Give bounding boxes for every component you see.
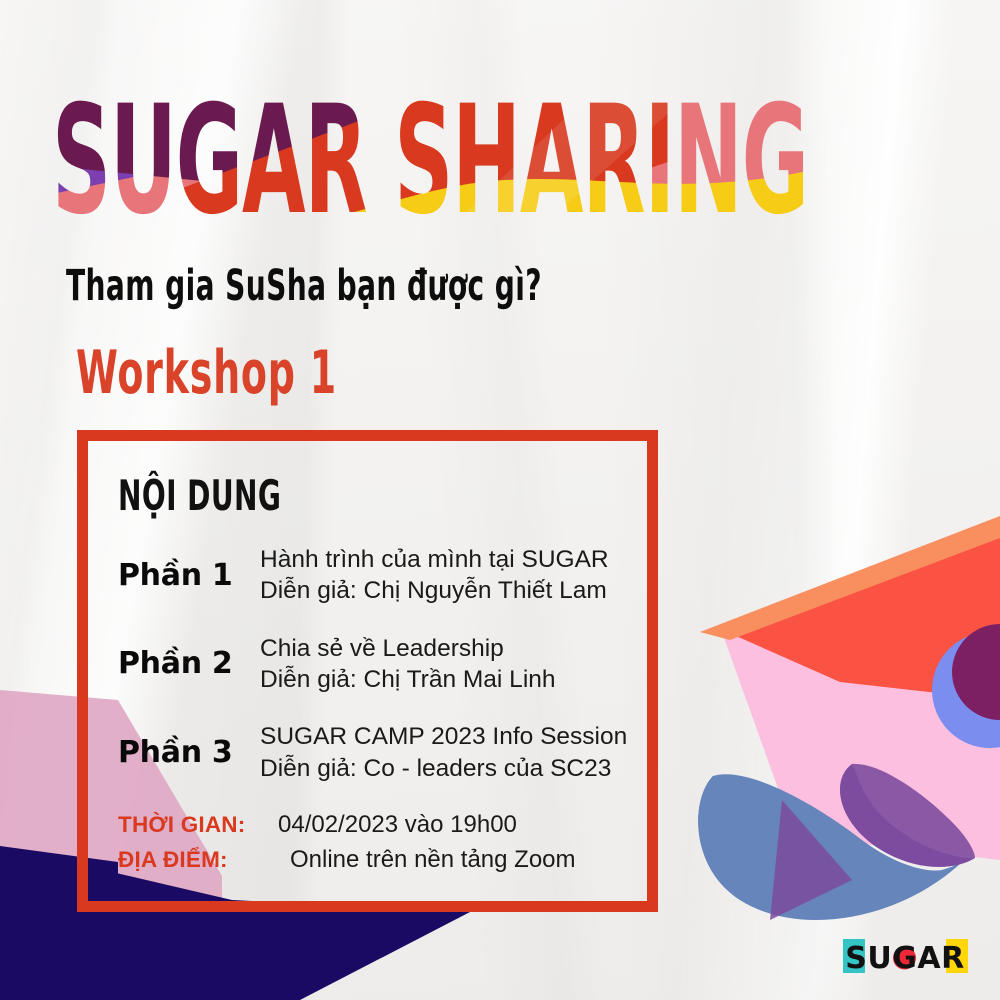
part-speaker: Diễn giả: Chị Nguyễn Thiết Lam	[260, 575, 638, 606]
part-speaker: Diễn giả: Co - leaders của SC23	[260, 753, 638, 784]
sugar-logo-text: SUGAR	[845, 941, 964, 976]
location-label: ĐỊA ĐIỂM:	[118, 847, 278, 873]
meta-row-location: ĐỊA ĐIỂM: Online trên nền tảng Zoom	[118, 846, 648, 874]
part-body: SUGAR CAMP 2023 Info Session Diễn giả: C…	[260, 721, 638, 784]
part-speaker: Diễn giả: Chị Trần Mai Linh	[260, 664, 638, 695]
part-body: Chia sẻ về Leadership Diễn giả: Chị Trần…	[260, 633, 638, 696]
location-value: Online trên nền tảng Zoom	[278, 846, 576, 874]
part-topic: SUGAR CAMP 2023 Info Session	[260, 723, 627, 750]
part-topic: Hành trình của mình tại SUGAR	[260, 546, 609, 573]
part-body: Hành trình của mình tại SUGAR Diễn giả: …	[260, 544, 638, 607]
workshop-heading: Workshop 1	[76, 338, 337, 408]
sugar-logo: SUGAR	[843, 935, 968, 977]
list-item: Phần 1 Hành trình của mình tại SUGAR Diễ…	[118, 544, 638, 607]
section-heading-noi-dung: NỘI DUNG	[118, 473, 281, 521]
time-value: 04/02/2023 vào 19h00	[278, 811, 517, 839]
event-meta: THỜI GIAN: 04/02/2023 vào 19h00 ĐỊA ĐIỂM…	[118, 811, 648, 881]
headline-sugar-sharing: SUGAR SHARING	[52, 74, 812, 244]
subtitle-question: Tham gia SuSha bạn được gì?	[66, 262, 542, 310]
part-topic: Chia sẻ về Leadership	[260, 635, 504, 662]
part-label: Phần 1	[118, 560, 260, 592]
part-label: Phần 3	[118, 737, 260, 769]
poster-canvas: SUGAR SHARING	[0, 0, 1000, 1000]
list-item: Phần 3 SUGAR CAMP 2023 Info Session Diễn…	[118, 721, 638, 784]
part-label: Phần 2	[118, 648, 260, 680]
parts-list: Phần 1 Hành trình của mình tại SUGAR Diễ…	[118, 544, 638, 810]
content-box: NỘI DUNG Phần 1 Hành trình của mình tại …	[77, 430, 658, 912]
meta-row-time: THỜI GIAN: 04/02/2023 vào 19h00	[118, 811, 648, 839]
list-item: Phần 2 Chia sẻ về Leadership Diễn giả: C…	[118, 633, 638, 696]
time-label: THỜI GIAN:	[118, 812, 278, 838]
